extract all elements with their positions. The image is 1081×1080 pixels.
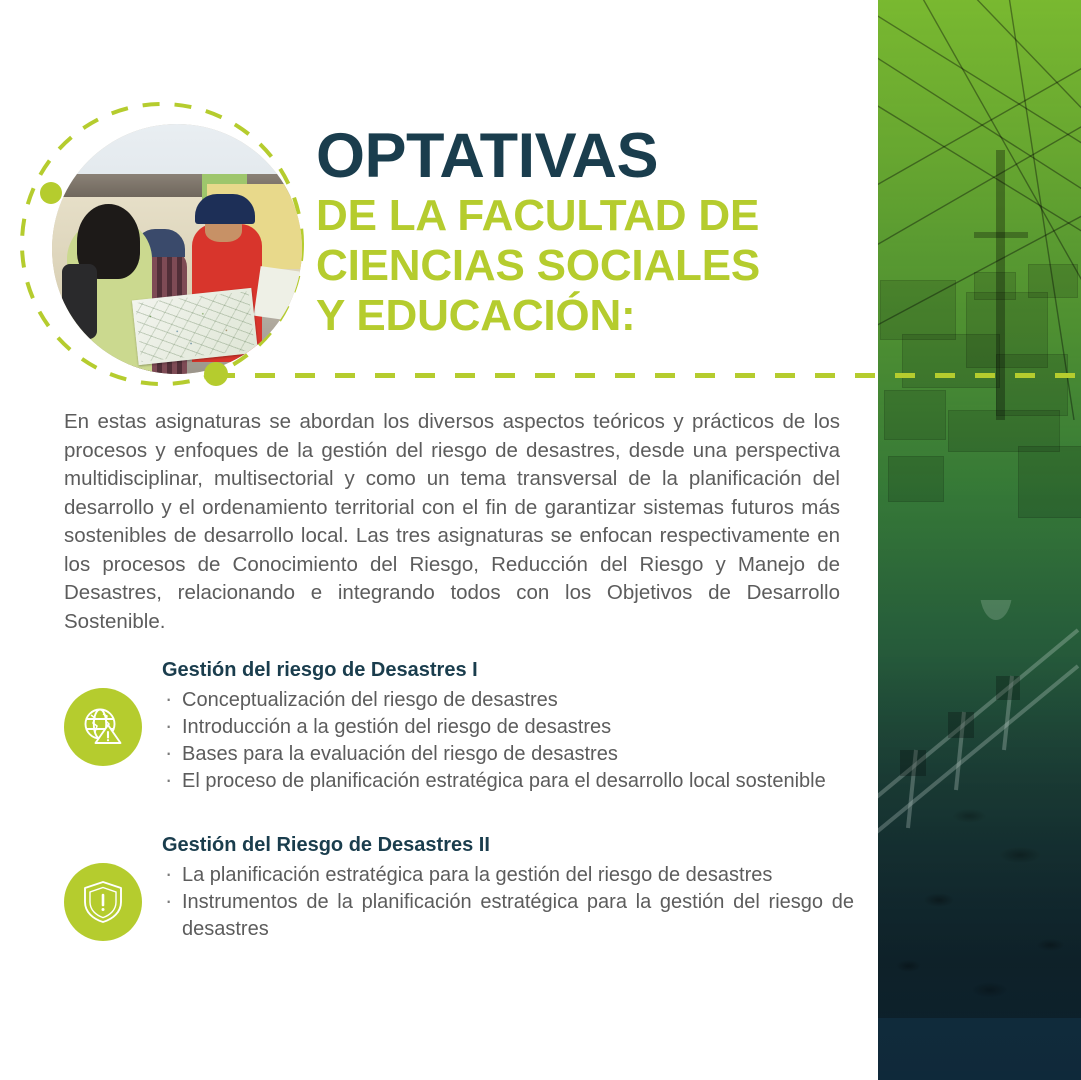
list-item: La planificación estratégica para la ges…	[162, 862, 854, 889]
course-2-list: La planificación estratégica para la ges…	[162, 862, 854, 943]
course-section-1-body: Gestión del riesgo de Desastres I Concep…	[162, 658, 854, 795]
page-subtitle-line-3: Y EDUCACIÓN:	[316, 291, 876, 341]
list-item: Introducción a la gestión del riesgo de …	[162, 714, 854, 741]
page-subtitle-line-2: CIENCIAS SOCIALES	[316, 241, 876, 291]
page-title: OPTATIVAS	[316, 125, 876, 187]
course-2-heading: Gestión del Riesgo de Desastres II	[162, 833, 854, 857]
poster-root: OPTATIVAS DE LA FACULTAD DE CIENCIAS SOC…	[0, 0, 1081, 1080]
page-subtitle-line-1: DE LA FACULTAD DE	[316, 191, 876, 241]
list-item: Instrumentos de la planificación estraté…	[162, 889, 854, 943]
dashed-divider-line	[215, 373, 1081, 378]
course-section-2-body: Gestión del Riesgo de Desastres II La pl…	[162, 833, 854, 943]
list-item: El proceso de planificación estratégica …	[162, 768, 854, 795]
right-photo-panel	[878, 0, 1081, 1080]
course-1-list: Conceptualización del riesgo de desastre…	[162, 687, 854, 795]
list-item: Bases para la evaluación del riesgo de d…	[162, 741, 854, 768]
course-section-1: Gestión del riesgo de Desastres I Concep…	[64, 658, 854, 795]
globe-warning-icon	[64, 688, 142, 766]
ring-dot-left	[40, 182, 62, 204]
course-1-heading: Gestión del riesgo de Desastres I	[162, 658, 854, 682]
right-photo	[878, 0, 1081, 1080]
right-photo-green-tint	[878, 0, 1081, 1080]
intro-paragraph: En estas asignaturas se abordan los dive…	[64, 408, 840, 636]
ring-dot-bottom	[204, 362, 228, 386]
circle-photo-group	[14, 96, 310, 392]
course-section-2: Gestión del Riesgo de Desastres II La pl…	[64, 833, 854, 943]
list-item: Conceptualización del riesgo de desastre…	[162, 687, 854, 714]
shield-warning-icon	[64, 863, 142, 941]
title-block: OPTATIVAS DE LA FACULTAD DE CIENCIAS SOC…	[316, 125, 876, 341]
circle-photo-image	[52, 124, 302, 374]
